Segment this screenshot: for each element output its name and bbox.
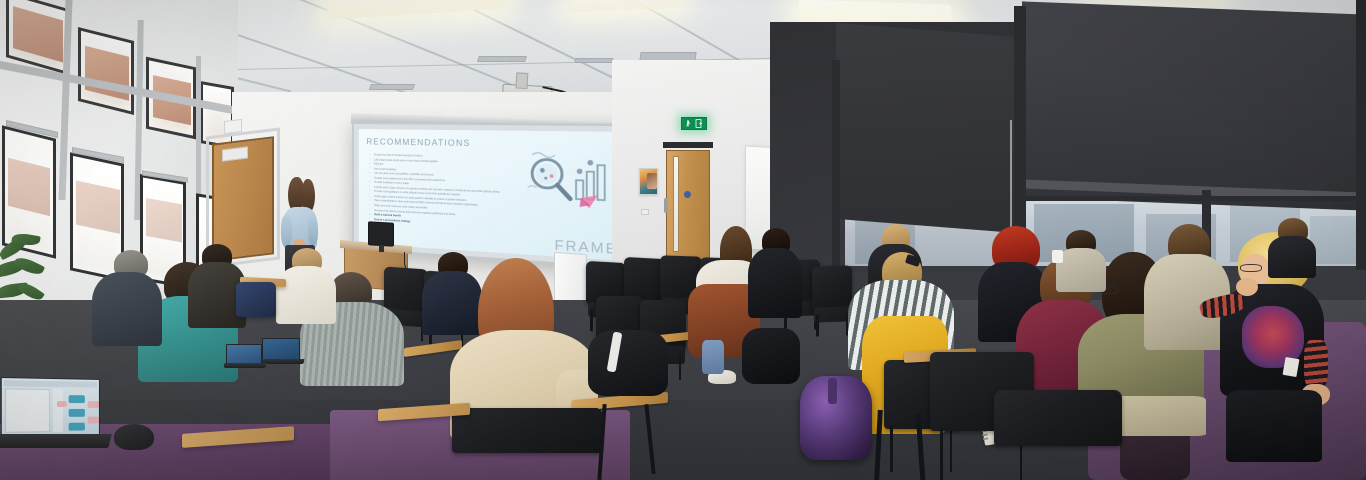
monitor-stand	[379, 245, 384, 252]
attendee-torso	[276, 266, 336, 324]
door-header-panel	[663, 142, 713, 148]
wall-notice	[224, 119, 242, 134]
door-handle[interactable]	[664, 198, 668, 213]
jeans-leg	[702, 340, 724, 374]
wall-poster	[639, 168, 658, 195]
presenter-arm	[308, 217, 318, 245]
attendee-grey-hair	[92, 250, 166, 346]
window-mullion	[1018, 196, 1364, 201]
laptop-keyboard-base[interactable]	[0, 434, 112, 448]
window-blind[interactable]	[1022, 1, 1366, 210]
magnifying-glass-bar-chart-icon	[523, 148, 607, 219]
laptop-screen	[226, 344, 262, 364]
light-switch[interactable]	[641, 209, 649, 215]
door-vision-panel	[673, 156, 679, 252]
glasses	[1240, 264, 1262, 272]
laptop-screen	[262, 338, 300, 360]
door-sign-badge	[684, 191, 691, 198]
headphones	[114, 424, 154, 450]
coffee-cup	[1052, 250, 1063, 263]
attendee-white-top	[276, 248, 338, 326]
backpack-strap	[828, 378, 837, 404]
backpack-black	[588, 330, 668, 396]
laptop-keyboard-base[interactable]	[224, 363, 267, 368]
backpack-black	[742, 328, 800, 384]
blind-pull-cord[interactable]	[1010, 120, 1012, 240]
laptop-flowchart-node	[69, 409, 85, 417]
attendee-torso	[1268, 236, 1316, 278]
laptop-flowchart-node	[57, 401, 67, 407]
attendee-torso	[748, 248, 802, 318]
laptop-flowchart-node	[69, 395, 85, 403]
laptop-open[interactable]	[226, 344, 264, 370]
slide-bullet-list: Ensure the FAQ of funded research is bui…	[369, 153, 537, 231]
emergency-exit-sign	[681, 117, 707, 130]
attendee-black-jacket	[748, 228, 804, 320]
laptop-flowchart-node	[88, 417, 99, 424]
laptop-open[interactable]	[262, 338, 302, 366]
presenter-arm	[281, 215, 292, 247]
attendee-window-right	[1056, 230, 1108, 292]
chair-back-foreground[interactable]	[994, 390, 1122, 480]
attendee-background-right	[1268, 218, 1318, 278]
window-mullion	[1356, 0, 1366, 270]
laptop-screen	[1, 377, 100, 437]
empty-chair[interactable]	[236, 282, 276, 338]
window-blind[interactable]	[836, 23, 1018, 233]
window-mullion	[832, 60, 840, 266]
attendee-torso	[1056, 248, 1106, 292]
laptop-foreground[interactable]	[0, 378, 112, 450]
empty-chair[interactable]	[812, 265, 852, 336]
laptop-flowchart-node	[69, 423, 85, 431]
lecture-room-photo: RECOMMENDATIONS Ensure the FAQ of funded…	[0, 0, 1366, 480]
attendee-torso	[92, 272, 162, 346]
slide-title: RECOMMENDATIONS	[366, 136, 470, 148]
chair-with-tablet-arm[interactable]	[452, 408, 602, 480]
presentation-slide: RECOMMENDATIONS Ensure the FAQ of funded…	[359, 129, 627, 261]
laptop-flowchart-node	[88, 401, 99, 408]
attendee-hand	[1236, 278, 1258, 296]
presenter-monitor	[368, 221, 394, 246]
attendee-legs	[1226, 390, 1322, 462]
